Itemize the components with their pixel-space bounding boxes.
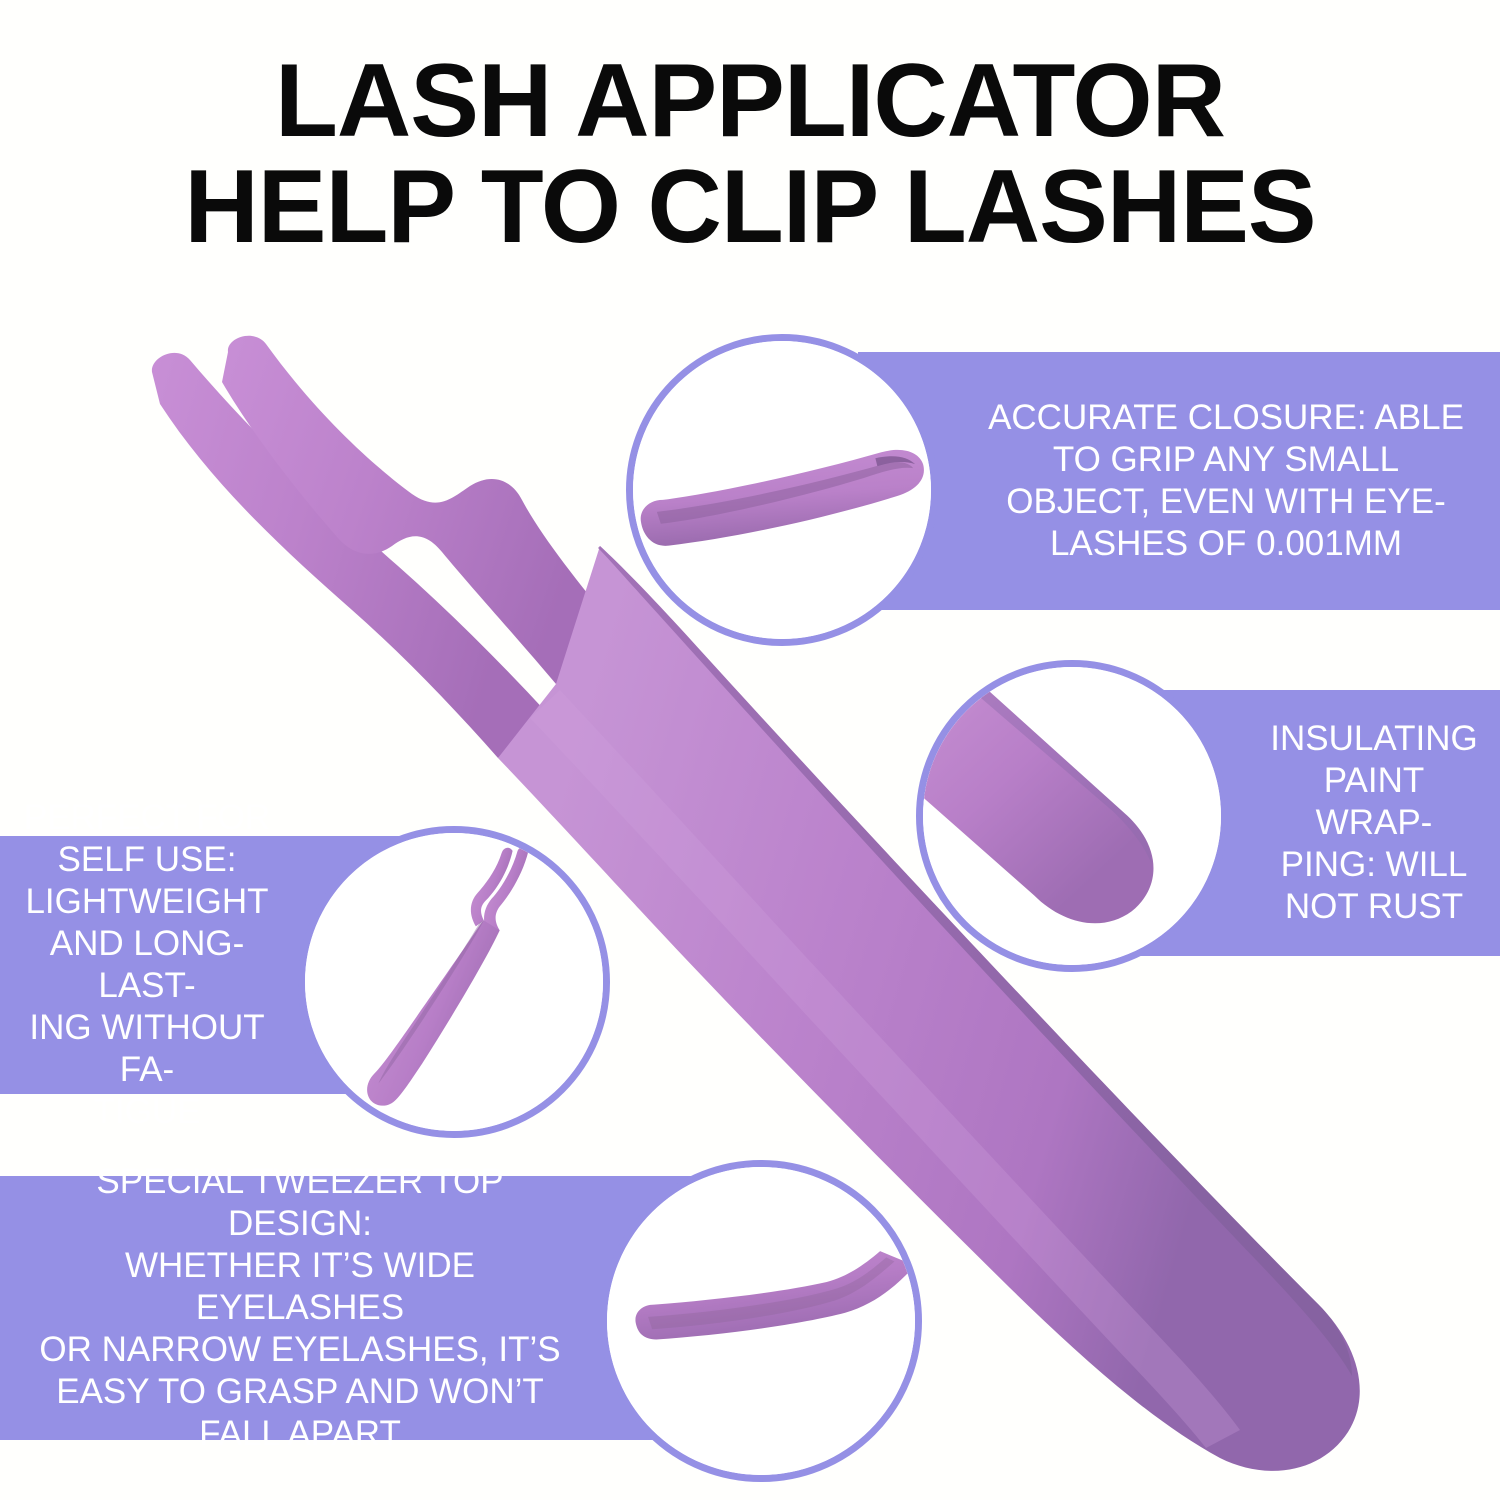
callout-text-perfect-for-self-use: PERFECT FOR SELF USE: LIGHTWEIGHT AND LO… xyxy=(14,797,280,1133)
detail-bubble-full-tweezer-miniature xyxy=(298,826,610,1138)
detail-bubble-rounded-handle-end xyxy=(916,660,1228,972)
callout-text-insulating-paint: INSULATING PAINT WRAP- PING: WILL NOT RU… xyxy=(1266,718,1482,928)
callout-text-accurate-closure: ACCURATE CLOSURE: ABLE TO GRIP ANY SMALL… xyxy=(988,397,1464,565)
tweezer-front-arm xyxy=(222,336,614,684)
callout-band-special-tweezer-top: SPECIAL TWEEZER TOP DESIGN: WHETHER IT’S… xyxy=(0,1176,700,1440)
detail-bubble-closed-tweezer-tip xyxy=(626,334,938,646)
product-infographic: LASH APPLICATOR HELP TO CLIP LASHES xyxy=(0,0,1500,1500)
page-title: LASH APPLICATOR HELP TO CLIP LASHES xyxy=(0,48,1500,260)
tweezer-back-arm xyxy=(152,353,548,758)
page-title-line-1: LASH APPLICATOR xyxy=(8,48,1493,154)
callout-text-special-tweezer-top: SPECIAL TWEEZER TOP DESIGN: WHETHER IT’S… xyxy=(24,1161,576,1455)
callout-band-accurate-closure: ACCURATE CLOSURE: ABLE TO GRIP ANY SMALL… xyxy=(858,352,1500,610)
detail-bubble-curved-tweezer-arm xyxy=(600,1160,922,1482)
page-title-line-2: HELP TO CLIP LASHES xyxy=(8,154,1493,260)
